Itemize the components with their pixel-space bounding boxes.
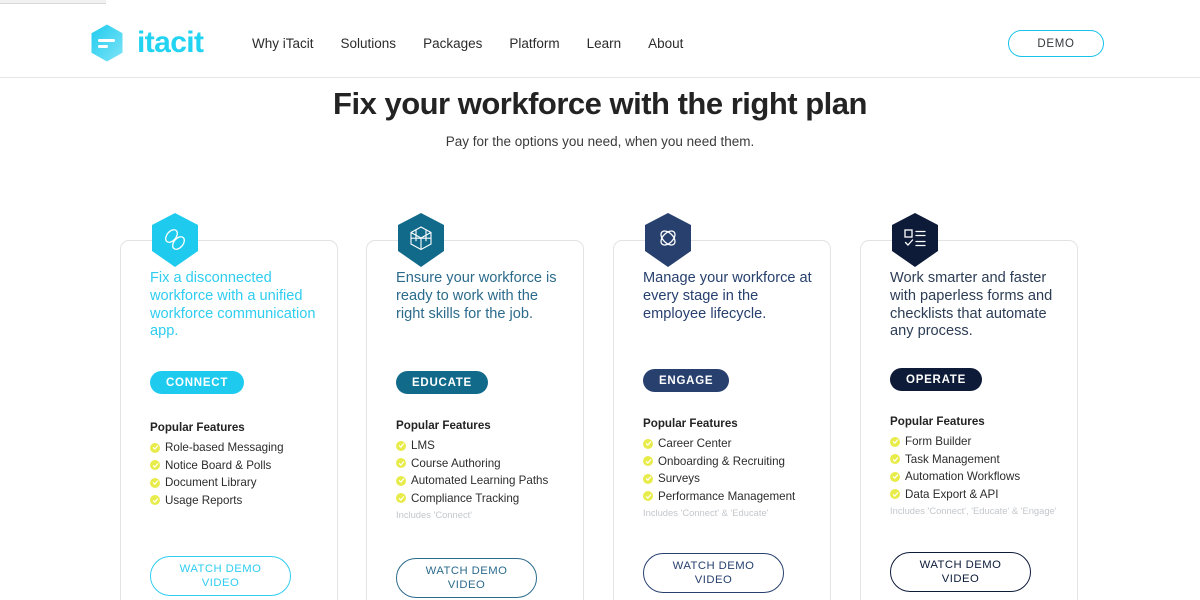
card-headline: Manage your workforce at every stage in … xyxy=(643,270,813,323)
watch-line-2: VIDEO xyxy=(202,576,239,590)
plan-cards: Fix a disconnected workforce with a unif… xyxy=(0,240,1200,600)
pricing-page: itacit Why iTacit Solutions Packages Pla… xyxy=(0,0,1200,600)
check-icon xyxy=(890,489,900,499)
feature-label: Notice Board & Polls xyxy=(165,459,271,472)
check-icon xyxy=(643,491,653,501)
feature-label: Document Library xyxy=(165,476,257,489)
feature-item: Role-based Messaging xyxy=(150,441,332,454)
plan-badge-connect[interactable]: CONNECT xyxy=(150,371,244,394)
check-icon xyxy=(643,456,653,466)
feature-label: Usage Reports xyxy=(165,494,242,507)
check-icon xyxy=(150,478,160,488)
features-list: Popular Features Career Center Onboardin… xyxy=(643,417,825,518)
feature-item: Automated Learning Paths xyxy=(396,474,578,487)
watch-line-1: WATCH DEMO xyxy=(426,564,508,578)
feature-label: Role-based Messaging xyxy=(165,441,284,454)
feature-item: Task Management xyxy=(890,453,1072,466)
feature-item: Onboarding & Recruiting xyxy=(643,455,825,468)
nav-item-platform[interactable]: Platform xyxy=(509,37,559,51)
features-title: Popular Features xyxy=(643,417,825,430)
feature-label: Form Builder xyxy=(905,435,971,448)
watch-demo-video-button[interactable]: WATCH DEMO VIDEO xyxy=(890,552,1031,592)
check-icon xyxy=(396,476,406,486)
page-title: Fix your workforce with the right plan xyxy=(0,86,1200,122)
watch-line-1: WATCH DEMO xyxy=(180,562,262,576)
feature-item: Career Center xyxy=(643,437,825,450)
watch-demo-video-button[interactable]: WATCH DEMO VIDEO xyxy=(643,553,784,593)
checklist-icon xyxy=(892,213,938,267)
card-headline: Fix a disconnected workforce with a unif… xyxy=(150,270,320,341)
check-icon xyxy=(396,441,406,451)
check-icon xyxy=(643,439,653,449)
feature-label: Career Center xyxy=(658,437,731,450)
feature-item: LMS xyxy=(396,439,578,452)
watch-line-2: VIDEO xyxy=(942,572,979,586)
includes-note: Includes 'Connect' xyxy=(396,509,578,520)
features-title: Popular Features xyxy=(396,419,578,432)
plan-card-educate[interactable]: Ensure your workforce is ready to work w… xyxy=(366,240,584,600)
logo[interactable]: itacit xyxy=(86,22,203,64)
main-nav: Why iTacit Solutions Packages Platform L… xyxy=(252,37,683,51)
plan-card-engage[interactable]: Manage your workforce at every stage in … xyxy=(613,240,831,600)
plan-card-operate[interactable]: Work smarter and faster with paperless f… xyxy=(860,240,1078,600)
feature-label: Task Management xyxy=(905,453,1000,466)
nav-item-about[interactable]: About xyxy=(648,37,683,51)
watch-demo-video-button[interactable]: WATCH DEMO VIDEO xyxy=(396,558,537,598)
feature-item: Performance Management xyxy=(643,490,825,503)
itacit-hexagon-logo-icon xyxy=(86,22,128,64)
feature-label: Onboarding & Recruiting xyxy=(658,455,785,468)
feature-label: Data Export & API xyxy=(905,488,998,501)
watch-line-2: VIDEO xyxy=(448,578,485,592)
feature-item: Document Library xyxy=(150,476,332,489)
feature-item: Course Authoring xyxy=(396,457,578,470)
feature-label: LMS xyxy=(411,439,435,452)
features-title: Popular Features xyxy=(890,415,1072,428)
plan-card-connect[interactable]: Fix a disconnected workforce with a unif… xyxy=(120,240,338,600)
includes-note: Includes 'Connect' & 'Educate' xyxy=(643,507,825,518)
feature-label: Automated Learning Paths xyxy=(411,474,548,487)
feature-item: Data Export & API xyxy=(890,488,1072,501)
nav-item-packages[interactable]: Packages xyxy=(423,37,482,51)
site-header: itacit Why iTacit Solutions Packages Pla… xyxy=(0,4,1200,78)
check-icon xyxy=(396,458,406,468)
check-icon xyxy=(150,460,160,470)
check-icon xyxy=(890,437,900,447)
card-headline: Ensure your workforce is ready to work w… xyxy=(396,270,566,323)
feature-item: Notice Board & Polls xyxy=(150,459,332,472)
watch-demo-video-button[interactable]: WATCH DEMO VIDEO xyxy=(150,556,291,596)
check-icon xyxy=(396,493,406,503)
feature-item: Compliance Tracking xyxy=(396,492,578,505)
feature-label: Surveys xyxy=(658,472,700,485)
plan-badge-educate[interactable]: EDUCATE xyxy=(396,371,488,394)
feature-label: Compliance Tracking xyxy=(411,492,519,505)
page-subtitle: Pay for the options you need, when you n… xyxy=(0,134,1200,149)
feature-label: Automation Workflows xyxy=(905,470,1020,483)
includes-note: Includes 'Connect', 'Educate' & 'Engage' xyxy=(890,505,1072,516)
nav-item-learn[interactable]: Learn xyxy=(587,37,622,51)
check-icon xyxy=(890,454,900,464)
features-title: Popular Features xyxy=(150,421,332,434)
feature-item: Form Builder xyxy=(890,435,1072,448)
feature-item: Automation Workflows xyxy=(890,470,1072,483)
plan-badge-engage[interactable]: ENGAGE xyxy=(643,369,729,392)
check-icon xyxy=(643,474,653,484)
check-icon xyxy=(150,443,160,453)
nav-item-solutions[interactable]: Solutions xyxy=(341,37,397,51)
cube-icon xyxy=(398,213,444,267)
watch-line-1: WATCH DEMO xyxy=(920,558,1002,572)
watch-line-1: WATCH DEMO xyxy=(673,559,755,573)
features-list: Popular Features Role-based Messaging No… xyxy=(150,421,332,511)
watch-line-2: VIDEO xyxy=(695,573,732,587)
check-icon xyxy=(890,472,900,482)
infinity-loop-icon xyxy=(645,213,691,267)
logo-text: itacit xyxy=(137,28,203,58)
chain-link-icon xyxy=(152,213,198,267)
features-list: Popular Features Form Builder Task Manag… xyxy=(890,415,1072,516)
plan-badge-operate[interactable]: OPERATE xyxy=(890,368,982,391)
check-icon xyxy=(150,495,160,505)
feature-item: Surveys xyxy=(643,472,825,485)
card-headline: Work smarter and faster with paperless f… xyxy=(890,270,1060,341)
feature-label: Course Authoring xyxy=(411,457,501,470)
hero-section: Fix your workforce with the right plan P… xyxy=(0,86,1200,149)
feature-label: Performance Management xyxy=(658,490,795,503)
nav-item-why-itacit[interactable]: Why iTacit xyxy=(252,37,314,51)
demo-button[interactable]: DEMO xyxy=(1008,30,1104,57)
feature-item: Usage Reports xyxy=(150,494,332,507)
features-list: Popular Features LMS Course Authoring Au… xyxy=(396,419,578,520)
